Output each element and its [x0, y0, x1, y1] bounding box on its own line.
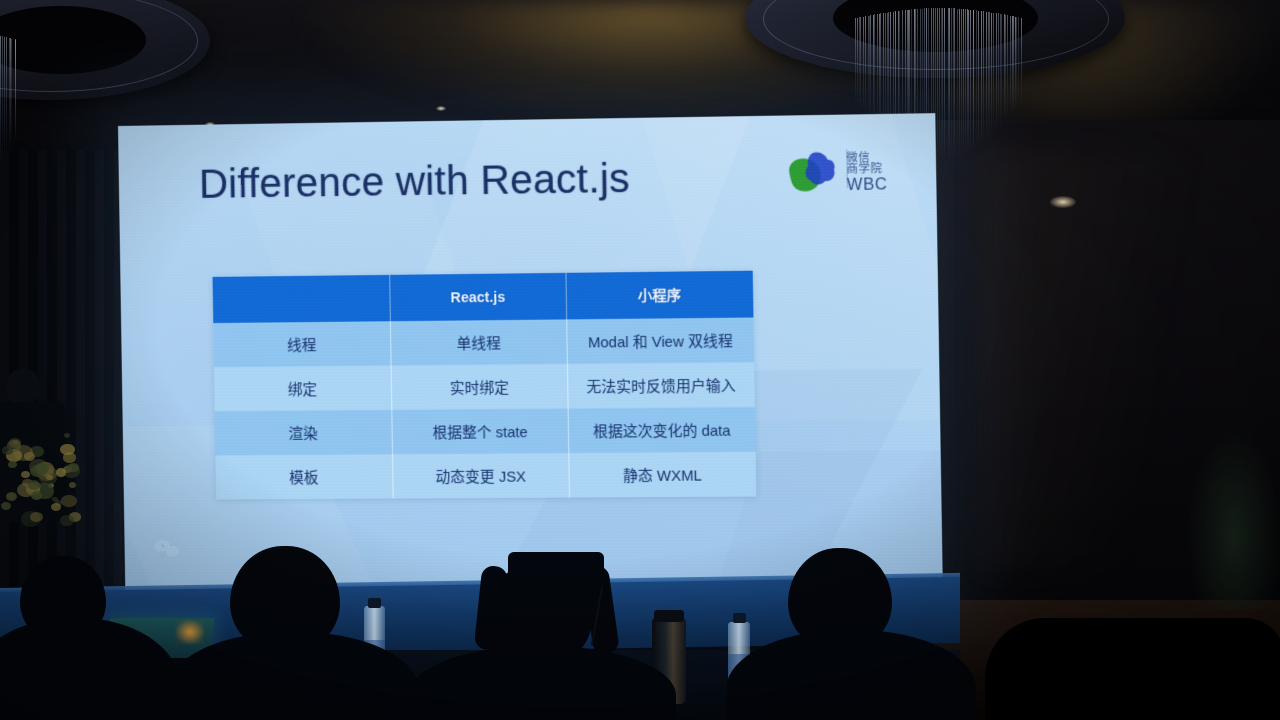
flower-petal	[31, 491, 42, 500]
crystal-strand	[4, 37, 5, 155]
table-header-cell-blank	[213, 275, 392, 323]
crystal-strand	[874, 14, 875, 121]
crystal-strand	[986, 12, 987, 138]
table-cell-react: 动态变更 JSX	[393, 453, 569, 499]
table-cell-miniprogram: 静态 WXML	[569, 452, 756, 498]
table-cell-miniprogram: Modal 和 View 双线程	[567, 317, 754, 363]
flower-petal	[60, 515, 74, 526]
flower-petal	[43, 490, 53, 498]
flower-petal	[64, 433, 70, 438]
table-cell-react: 单线程	[391, 319, 567, 365]
crystal-strand	[1016, 17, 1017, 107]
crystal-strand	[951, 8, 952, 156]
watermark-dot	[161, 556, 163, 558]
table-cell-react: 实时绑定	[392, 364, 568, 410]
flower-petal	[61, 495, 77, 508]
table-cell-miniprogram: 根据这次变化的 data	[568, 407, 755, 453]
crystal-strand	[1013, 16, 1014, 111]
crystal-strand	[954, 8, 955, 155]
crystal-strand	[865, 16, 866, 111]
watermark-bubble	[165, 545, 179, 557]
thermos-cap	[654, 610, 684, 622]
crystal-strand	[1018, 17, 1019, 104]
table-cell-label: 模板	[215, 454, 394, 499]
watermark-dot	[159, 551, 161, 553]
logo-line2: 商学院	[846, 164, 887, 176]
crystal-strand	[981, 11, 982, 140]
crystal-strand	[993, 13, 994, 131]
flower-petal	[60, 444, 75, 456]
water-bottle-cap	[368, 598, 381, 608]
crystal-strand	[855, 18, 856, 101]
crystal-strand	[991, 13, 992, 133]
flower-petal	[68, 463, 79, 472]
crystal-strand	[870, 15, 871, 117]
crystal-strand	[880, 13, 881, 126]
crystal-strand	[983, 11, 984, 139]
flower-petal	[2, 446, 13, 455]
scene-root: Difference with React.js 微信 商学院 WBC	[0, 0, 1280, 720]
presenter-head	[6, 368, 40, 406]
table-header-cell-react: React.js	[390, 273, 566, 321]
downlight-icon	[436, 106, 446, 111]
wbc-logo-mark-icon	[784, 148, 839, 200]
water-bottle-cap	[733, 613, 746, 623]
crystal-strand	[860, 17, 861, 107]
crystal-strand	[968, 10, 969, 150]
wechat-watermark-icon	[154, 538, 184, 560]
chandelier-left-strands	[0, 30, 20, 205]
crystal-strand	[1010, 16, 1011, 116]
logo-blob-icon	[784, 148, 839, 200]
crystal-strand	[0, 36, 1, 161]
potted-plant	[1188, 430, 1280, 610]
crystal-strand	[11, 39, 12, 143]
crystal-strand	[989, 12, 990, 134]
wall-light-icon	[1050, 196, 1076, 208]
flower-arrangement	[0, 430, 82, 530]
crystal-strand	[976, 10, 977, 144]
flower-petal	[30, 512, 43, 522]
flower-petal	[8, 493, 16, 499]
table-cell-label: 绑定	[214, 366, 393, 412]
crystal-strand	[978, 11, 979, 144]
crystal-strand	[6, 37, 7, 151]
table-row: 渲染 根据整个 state 根据这次变化的 data	[215, 407, 756, 455]
slide-title: Difference with React.js	[199, 156, 630, 207]
projection-screen: Difference with React.js 微信 商学院 WBC	[118, 113, 943, 596]
crystal-strand	[863, 17, 864, 109]
flower-petal	[51, 503, 61, 511]
crystal-strand	[957, 9, 958, 155]
crystal-strand	[996, 13, 997, 129]
flower-petal	[28, 480, 40, 490]
watermark-dot	[163, 553, 165, 555]
logo-acronym: WBC	[847, 177, 888, 195]
flower-petal	[1, 502, 11, 510]
crystal-strand	[973, 10, 974, 146]
table-header: React.js 小程序	[213, 271, 754, 323]
crystal-strand	[963, 9, 964, 153]
wbc-logo: 微信 商学院 WBC	[784, 142, 906, 205]
crystal-strand	[944, 8, 945, 158]
crystal-strand	[959, 9, 960, 155]
table-header-row: React.js 小程序	[213, 271, 754, 323]
table-body: 线程 单线程 Modal 和 View 双线程 绑定 实时绑定 无法实时反馈用户…	[213, 317, 756, 499]
table-row: 模板 动态变更 JSX 静态 WXML	[215, 452, 756, 500]
comparison-table: React.js 小程序 线程 单线程 Modal 和 View 双线程 绑定 …	[213, 271, 757, 500]
table-header-cell-miniprogram: 小程序	[566, 271, 753, 320]
crystal-strand	[15, 40, 16, 136]
table-row: 线程 单线程 Modal 和 View 双线程	[213, 317, 754, 367]
table-cell-react: 根据整个 state	[393, 408, 569, 454]
crystal-strand	[1007, 15, 1008, 117]
flower-petal	[56, 468, 67, 476]
laptop-highlight	[176, 620, 204, 644]
flower-petal	[69, 482, 76, 487]
crystal-strand	[1001, 14, 1002, 123]
crystal-strand	[970, 10, 971, 149]
table-row: 绑定 实时绑定 无法实时反馈用户输入	[214, 362, 755, 411]
watermark-dot	[161, 544, 163, 546]
crystal-strand	[1021, 18, 1022, 103]
table-cell-label: 渲染	[215, 410, 394, 456]
crystal-strand	[939, 8, 940, 158]
crystal-strand	[948, 8, 949, 157]
crystal-strand	[883, 13, 884, 129]
flower-petal	[21, 471, 29, 478]
table-cell-miniprogram: 无法实时反馈用户输入	[568, 362, 755, 408]
audience-person-far-right	[985, 618, 1280, 720]
flower-petal	[8, 461, 17, 468]
wbc-logo-text: 微信 商学院 WBC	[846, 152, 887, 194]
slide-surface: Difference with React.js 微信 商学院 WBC	[118, 113, 943, 596]
table-cell-label: 线程	[213, 321, 392, 367]
